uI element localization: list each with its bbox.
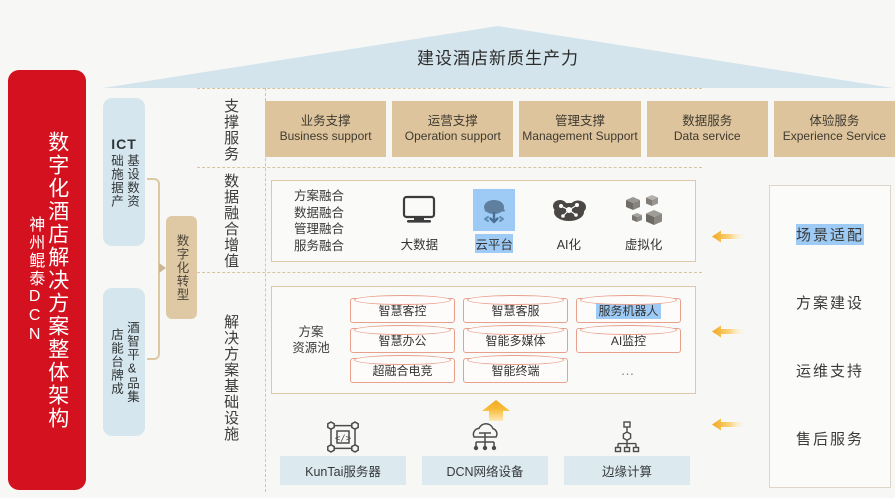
fusion-item-virtual[interactable]: 虚拟化 — [613, 189, 675, 253]
fusion-item-bigdata[interactable]: 大数据 — [388, 189, 450, 253]
pool-item-6[interactable]: 超融合电竞 — [350, 358, 455, 383]
left-arrow-icon-1 — [712, 230, 744, 243]
hotel-col-left: 店能台牌成 — [108, 328, 124, 396]
support-en-1: Operation support — [405, 129, 501, 144]
row-label-support: 支撑服务 — [197, 92, 263, 167]
banner-main-title: 数字化酒店解决方案整体架构 — [45, 131, 69, 430]
ict-acronym: ICT — [111, 136, 137, 152]
pool-text-3: 智慧办公 — [378, 332, 426, 349]
infra-item-network[interactable]: DCN网络设备 — [422, 418, 548, 488]
support-en-3: Data service — [674, 129, 741, 144]
fusion-caption-cloud: 云平台 — [475, 234, 513, 253]
architecture-diagram: 数字化酒店解决方案整体架构 神州鲲泰DCN 建设酒店新质生产力 ICT 基设数资… — [0, 0, 895, 498]
title-banner: 数字化酒店解决方案整体架构 神州鲲泰DCN — [8, 70, 86, 490]
right-panel-item-scenario[interactable]: 场景适配 — [796, 224, 864, 245]
pool-item-7[interactable]: 智能终端 — [463, 358, 568, 383]
pool-text-7: 智能终端 — [491, 362, 539, 379]
right-panel-item-construction[interactable]: 方案建设 — [796, 292, 864, 313]
infra-item-server[interactable]: </> KunTai服务器 — [280, 418, 406, 488]
right-panel-item-aftersales[interactable]: 售后服务 — [796, 428, 864, 449]
roof-label: 建设酒店新质生产力 — [103, 44, 893, 69]
support-en-0: Business support — [280, 129, 372, 144]
support-cn-0: 业务支撑 — [301, 114, 351, 129]
support-box-management[interactable]: 管理支撑 Management Support — [519, 101, 640, 157]
fusion-item-ai[interactable]: AI化 — [538, 189, 600, 253]
cloud-network-icon — [465, 418, 505, 456]
pool-text-2: 服务机器人 — [596, 302, 660, 319]
fusion-caption-bigdata: 大数据 — [401, 234, 439, 253]
digital-transformation-label: 数字化转型 — [174, 234, 190, 302]
left-arrow-icon-2 — [712, 325, 744, 338]
pool-item-5[interactable]: AI监控 — [576, 328, 681, 353]
support-en-4: Experience Service — [783, 129, 886, 144]
fusion-caption-virtual: 虚拟化 — [625, 234, 663, 253]
left-arrow-icon-3 — [712, 418, 744, 431]
divider-support-fusion — [197, 167, 702, 168]
infra-caption-edge: 边缘计算 — [564, 456, 690, 485]
infrastructure-row: </> KunTai服务器 DCN网络设备 — [280, 418, 690, 488]
pool-text-5: AI监控 — [611, 332, 646, 349]
infra-caption-server: KunTai服务器 — [280, 456, 406, 485]
ai-cloud-icon — [549, 189, 589, 231]
pool-item-more: … — [576, 358, 681, 383]
digital-transformation-box: 数字化转型 — [166, 216, 197, 319]
resource-pool-label: 方案 资源池 — [272, 324, 350, 357]
pool-text-0: 智慧客控 — [378, 302, 426, 319]
row-label-solution: 解决方案基础设施 — [197, 278, 263, 478]
support-cn-2: 管理支撑 — [555, 114, 605, 129]
pool-item-1[interactable]: 智慧客服 — [463, 298, 568, 323]
fusion-text-block: 方案融合 数据融合 管理融合 服务融合 — [272, 188, 382, 254]
infra-item-edge[interactable]: 边缘计算 — [564, 418, 690, 488]
pool-text-4: 智能多媒体 — [485, 332, 545, 349]
pool-text-1: 智慧客服 — [491, 302, 539, 319]
pool-item-3[interactable]: 智慧办公 — [350, 328, 455, 353]
support-cn-3: 数据服务 — [682, 114, 732, 129]
hotel-platform-box: 酒智平&品集 店能台牌成 — [103, 288, 145, 436]
support-cn-1: 运营支撑 — [428, 114, 478, 129]
divider-top — [197, 88, 702, 89]
ict-inner: ICT 基设数资 础施据产 — [108, 136, 140, 208]
bracket-arrow-icon — [159, 263, 166, 273]
pool-text-6: 超融合电竞 — [372, 362, 432, 379]
fusion-item-cloud[interactable]: 云平台 — [463, 189, 525, 253]
svg-text:</>: </> — [335, 434, 352, 444]
banner-sub-title: 神州鲲泰DCN — [25, 216, 43, 345]
ict-platform-box: ICT 基设数资 础施据产 — [103, 98, 145, 246]
resource-pool-panel: 方案 资源池 智慧客控 智慧客服 服务机器人 智慧办公 智能多媒体 AI监控 超… — [271, 286, 696, 394]
support-box-data[interactable]: 数据服务 Data service — [647, 101, 768, 157]
cloud-sync-icon — [473, 189, 515, 231]
row-label-support-text: 支撑服务 — [221, 98, 239, 162]
service-lifecycle-panel: 场景适配 方案建设 运维支持 售后服务 — [769, 185, 891, 488]
edge-node-icon — [610, 418, 644, 456]
row-label-fusion: 数据融合增值 — [197, 172, 263, 270]
pool-item-0[interactable]: 智慧客控 — [350, 298, 455, 323]
pool-text-8: … — [621, 362, 637, 378]
hotel-col-right: 酒智平&品集 — [124, 321, 140, 404]
pool-item-4[interactable]: 智能多媒体 — [463, 328, 568, 353]
support-box-experience[interactable]: 体验服务 Experience Service — [774, 101, 895, 157]
fusion-caption-ai: AI化 — [557, 234, 581, 253]
support-cn-4: 体验服务 — [809, 114, 859, 129]
support-services-row: 业务支撑 Business support 运营支撑 Operation sup… — [265, 101, 895, 157]
server-mesh-icon: </> — [326, 418, 360, 456]
divider-fusion-solution — [197, 272, 702, 273]
row-label-fusion-text: 数据融合增值 — [221, 173, 239, 269]
infra-caption-network: DCN网络设备 — [422, 456, 548, 485]
right-panel-item-ops[interactable]: 运维支持 — [796, 360, 864, 381]
row-label-solution-text: 解决方案基础设施 — [221, 314, 239, 442]
ict-text-columns: 基设数资 础施据产 — [108, 154, 140, 208]
monitor-icon — [401, 189, 437, 231]
support-en-2: Management Support — [522, 129, 637, 144]
cubes-icon — [625, 189, 663, 231]
data-fusion-panel: 方案融合 数据融合 管理融合 服务融合 大数据 — [271, 180, 696, 262]
support-box-operation[interactable]: 运营支撑 Operation support — [392, 101, 513, 157]
pool-item-2[interactable]: 服务机器人 — [576, 298, 681, 323]
ict-col-right: 基设数资 — [124, 154, 140, 208]
support-box-business[interactable]: 业务支撑 Business support — [265, 101, 386, 157]
ict-col-left: 础施据产 — [108, 154, 124, 208]
fusion-icon-group: 大数据 云平台 — [382, 189, 695, 253]
resource-pool-grid: 智慧客控 智慧客服 服务机器人 智慧办公 智能多媒体 AI监控 超融合电竞 智能… — [350, 298, 695, 383]
